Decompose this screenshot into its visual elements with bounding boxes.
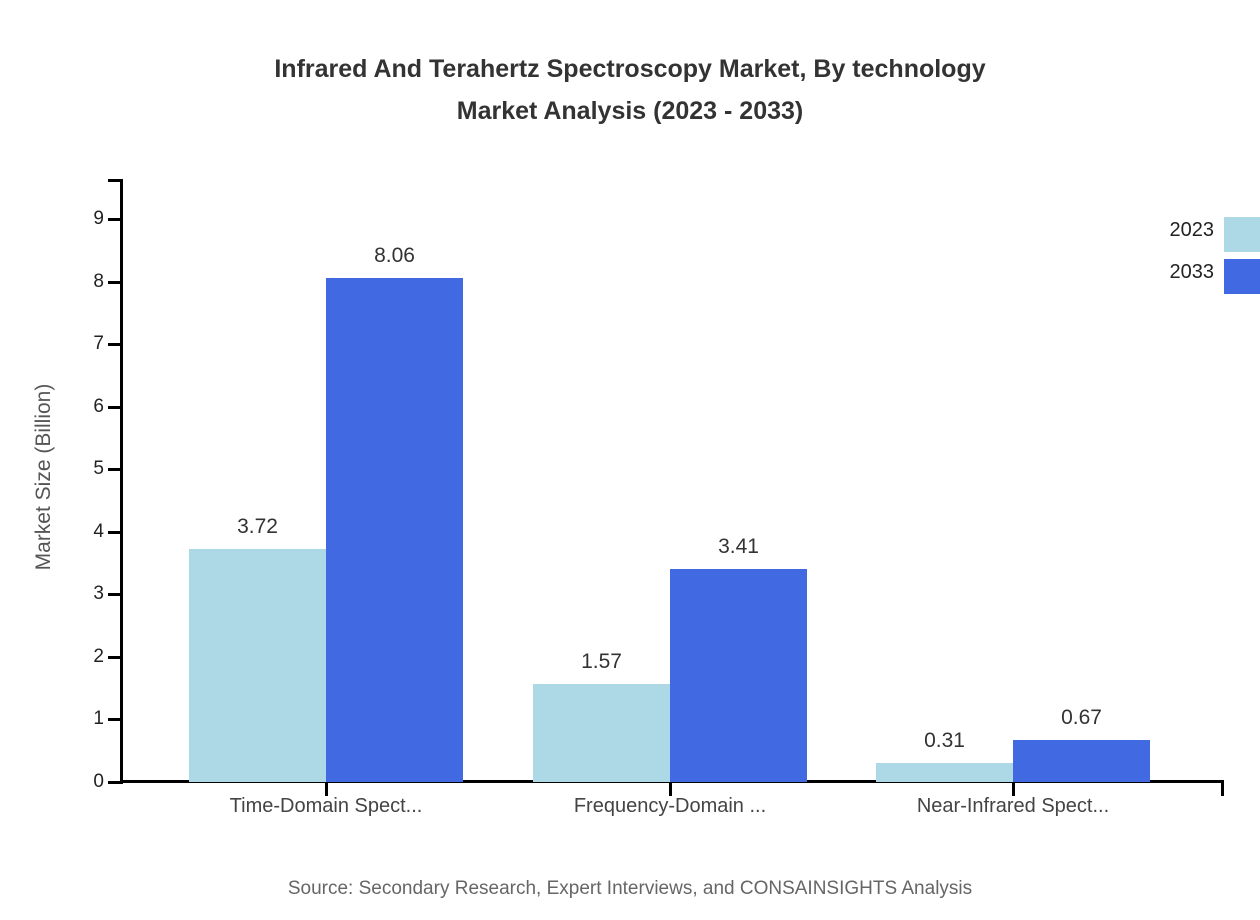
y-axis-tick-label: 1 [64,708,104,730]
y-axis-tick-label: 4 [64,521,104,543]
bar-value-label: 1.57 [522,650,682,674]
bar-value-label: 0.31 [865,729,1025,753]
y-axis-tick-label: 5 [64,458,104,480]
y-axis-tick [108,468,121,471]
y-axis-tick [108,531,121,534]
legend-swatch-2033 [1224,259,1260,294]
chart-title: Infrared And Terahertz Spectroscopy Mark… [0,48,1260,132]
y-axis-tick-label: 8 [64,271,104,293]
source-note: Source: Secondary Research, Expert Inter… [0,878,1260,900]
bar-2023-0[interactable] [189,549,326,782]
bar-value-label: 3.72 [178,515,338,539]
bar-value-label: 3.41 [659,535,819,559]
y-axis-tick [108,656,121,659]
bar-value-label: 8.06 [315,244,475,268]
y-axis-tick [108,218,121,221]
bar-2023-2[interactable] [876,763,1013,782]
legend-item-2023[interactable]: 2023 [1130,214,1260,256]
y-axis-tick [108,406,121,409]
y-axis-tick-label: 9 [64,208,104,230]
y-axis-tick [108,781,121,784]
y-axis-tick [108,718,121,721]
chart-legend: 2023 2033 [1130,214,1260,298]
x-axis-tick-label: Time-Domain Spect... [156,795,496,818]
legend-label-2033: 2033 [1170,261,1215,284]
y-axis-tick-label: 2 [64,646,104,668]
x-axis-tick-label: Near-Infrared Spect... [843,795,1183,818]
y-axis-tick [108,593,121,596]
legend-label-2023: 2023 [1170,219,1215,242]
y-axis-tick [108,281,121,284]
legend-swatch-2023 [1224,217,1260,252]
bar-value-label: 0.67 [1002,706,1162,730]
legend-item-2033[interactable]: 2033 [1130,256,1260,298]
bar-2023-1[interactable] [533,684,670,782]
y-axis-tick-label: 7 [64,333,104,355]
y-axis-tick [108,343,121,346]
y-axis-tick-label: 0 [64,771,104,793]
x-axis-tick-label: Frequency-Domain ... [500,795,840,818]
y-axis-tick-top [108,179,121,182]
y-axis-title: Market Size (Billion) [32,317,56,637]
chart-title-line-2: Market Analysis (2023 - 2033) [0,90,1260,132]
bar-2033-0[interactable] [326,278,463,782]
bar-2033-1[interactable] [670,569,807,782]
chart-title-line-1: Infrared And Terahertz Spectroscopy Mark… [0,48,1260,90]
y-axis-tick-label: 6 [64,396,104,418]
bar-2033-2[interactable] [1013,740,1150,782]
x-axis-tick-end [1221,783,1224,796]
chart-canvas: Infrared And Terahertz Spectroscopy Mark… [0,0,1260,920]
y-axis-tick-label: 3 [64,583,104,605]
y-axis-spine [120,179,123,784]
